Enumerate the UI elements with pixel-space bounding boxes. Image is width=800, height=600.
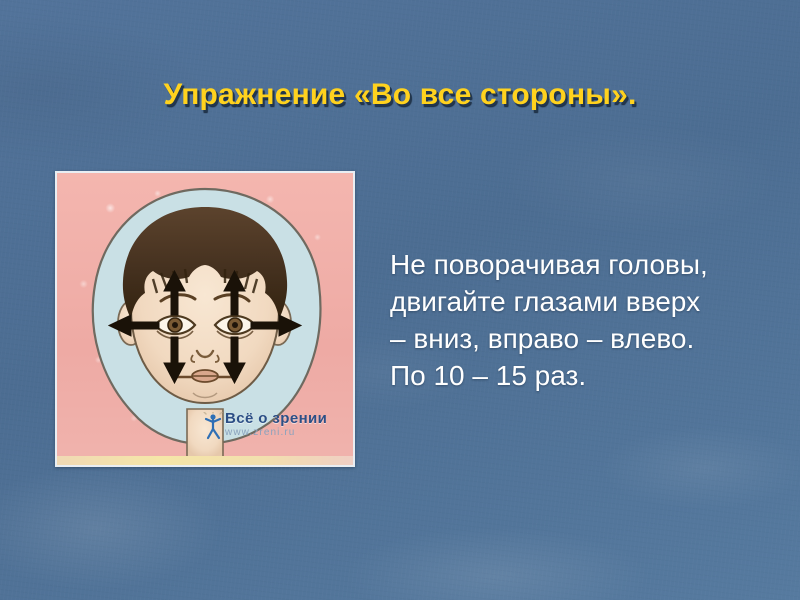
- slide-title: Упражнение «Во все стороны».: [0, 78, 800, 112]
- slide-body-text: Не поворачивая головы, двигайте глазами …: [390, 246, 720, 394]
- illustration-bottom-strip: [57, 456, 353, 465]
- face-illustration-svg: [57, 173, 353, 465]
- eye-left: [155, 316, 195, 334]
- eye-right: [215, 316, 255, 334]
- slide: Упражнение «Во все стороны».: [0, 0, 800, 600]
- illustration-image: Всё о зрении www.zreni.ru: [55, 171, 355, 467]
